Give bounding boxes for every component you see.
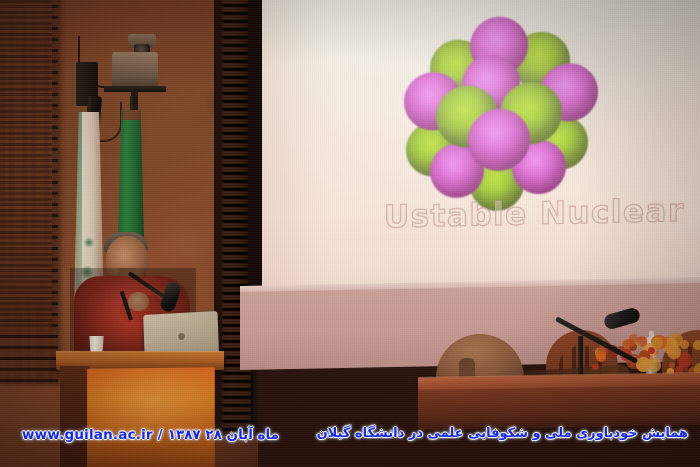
flower-petal <box>669 362 675 368</box>
flower-petal <box>693 340 700 350</box>
laptop-logo-icon <box>178 333 185 340</box>
acoustic-panel-secondary <box>0 0 52 330</box>
speaker-hand <box>128 292 149 311</box>
nucleus-cluster-graphic <box>408 14 608 208</box>
caption-right: همایش خودباوری ملی و شکوفایی علمی در دان… <box>317 426 688 441</box>
flower-petal <box>652 337 663 348</box>
photograph-stage: Ustable Nuclear <box>0 0 700 467</box>
flower-petal <box>667 345 681 359</box>
caption-overlay: www.guilan.ac.ir / ۱۳۸۷ ماه آبان ۲۸ همای… <box>0 424 700 454</box>
flower-petal <box>592 364 599 371</box>
slide-caption: Ustable Nuclear <box>384 193 674 235</box>
projection-screen: Ustable Nuclear <box>262 0 700 302</box>
flower-petal <box>680 340 689 349</box>
flower-petal <box>648 358 661 371</box>
caption-left: www.guilan.ac.ir / ۱۳۸۷ ماه آبان ۲۸ <box>22 427 279 443</box>
flower-petal <box>596 351 607 362</box>
projector-body <box>112 52 158 88</box>
